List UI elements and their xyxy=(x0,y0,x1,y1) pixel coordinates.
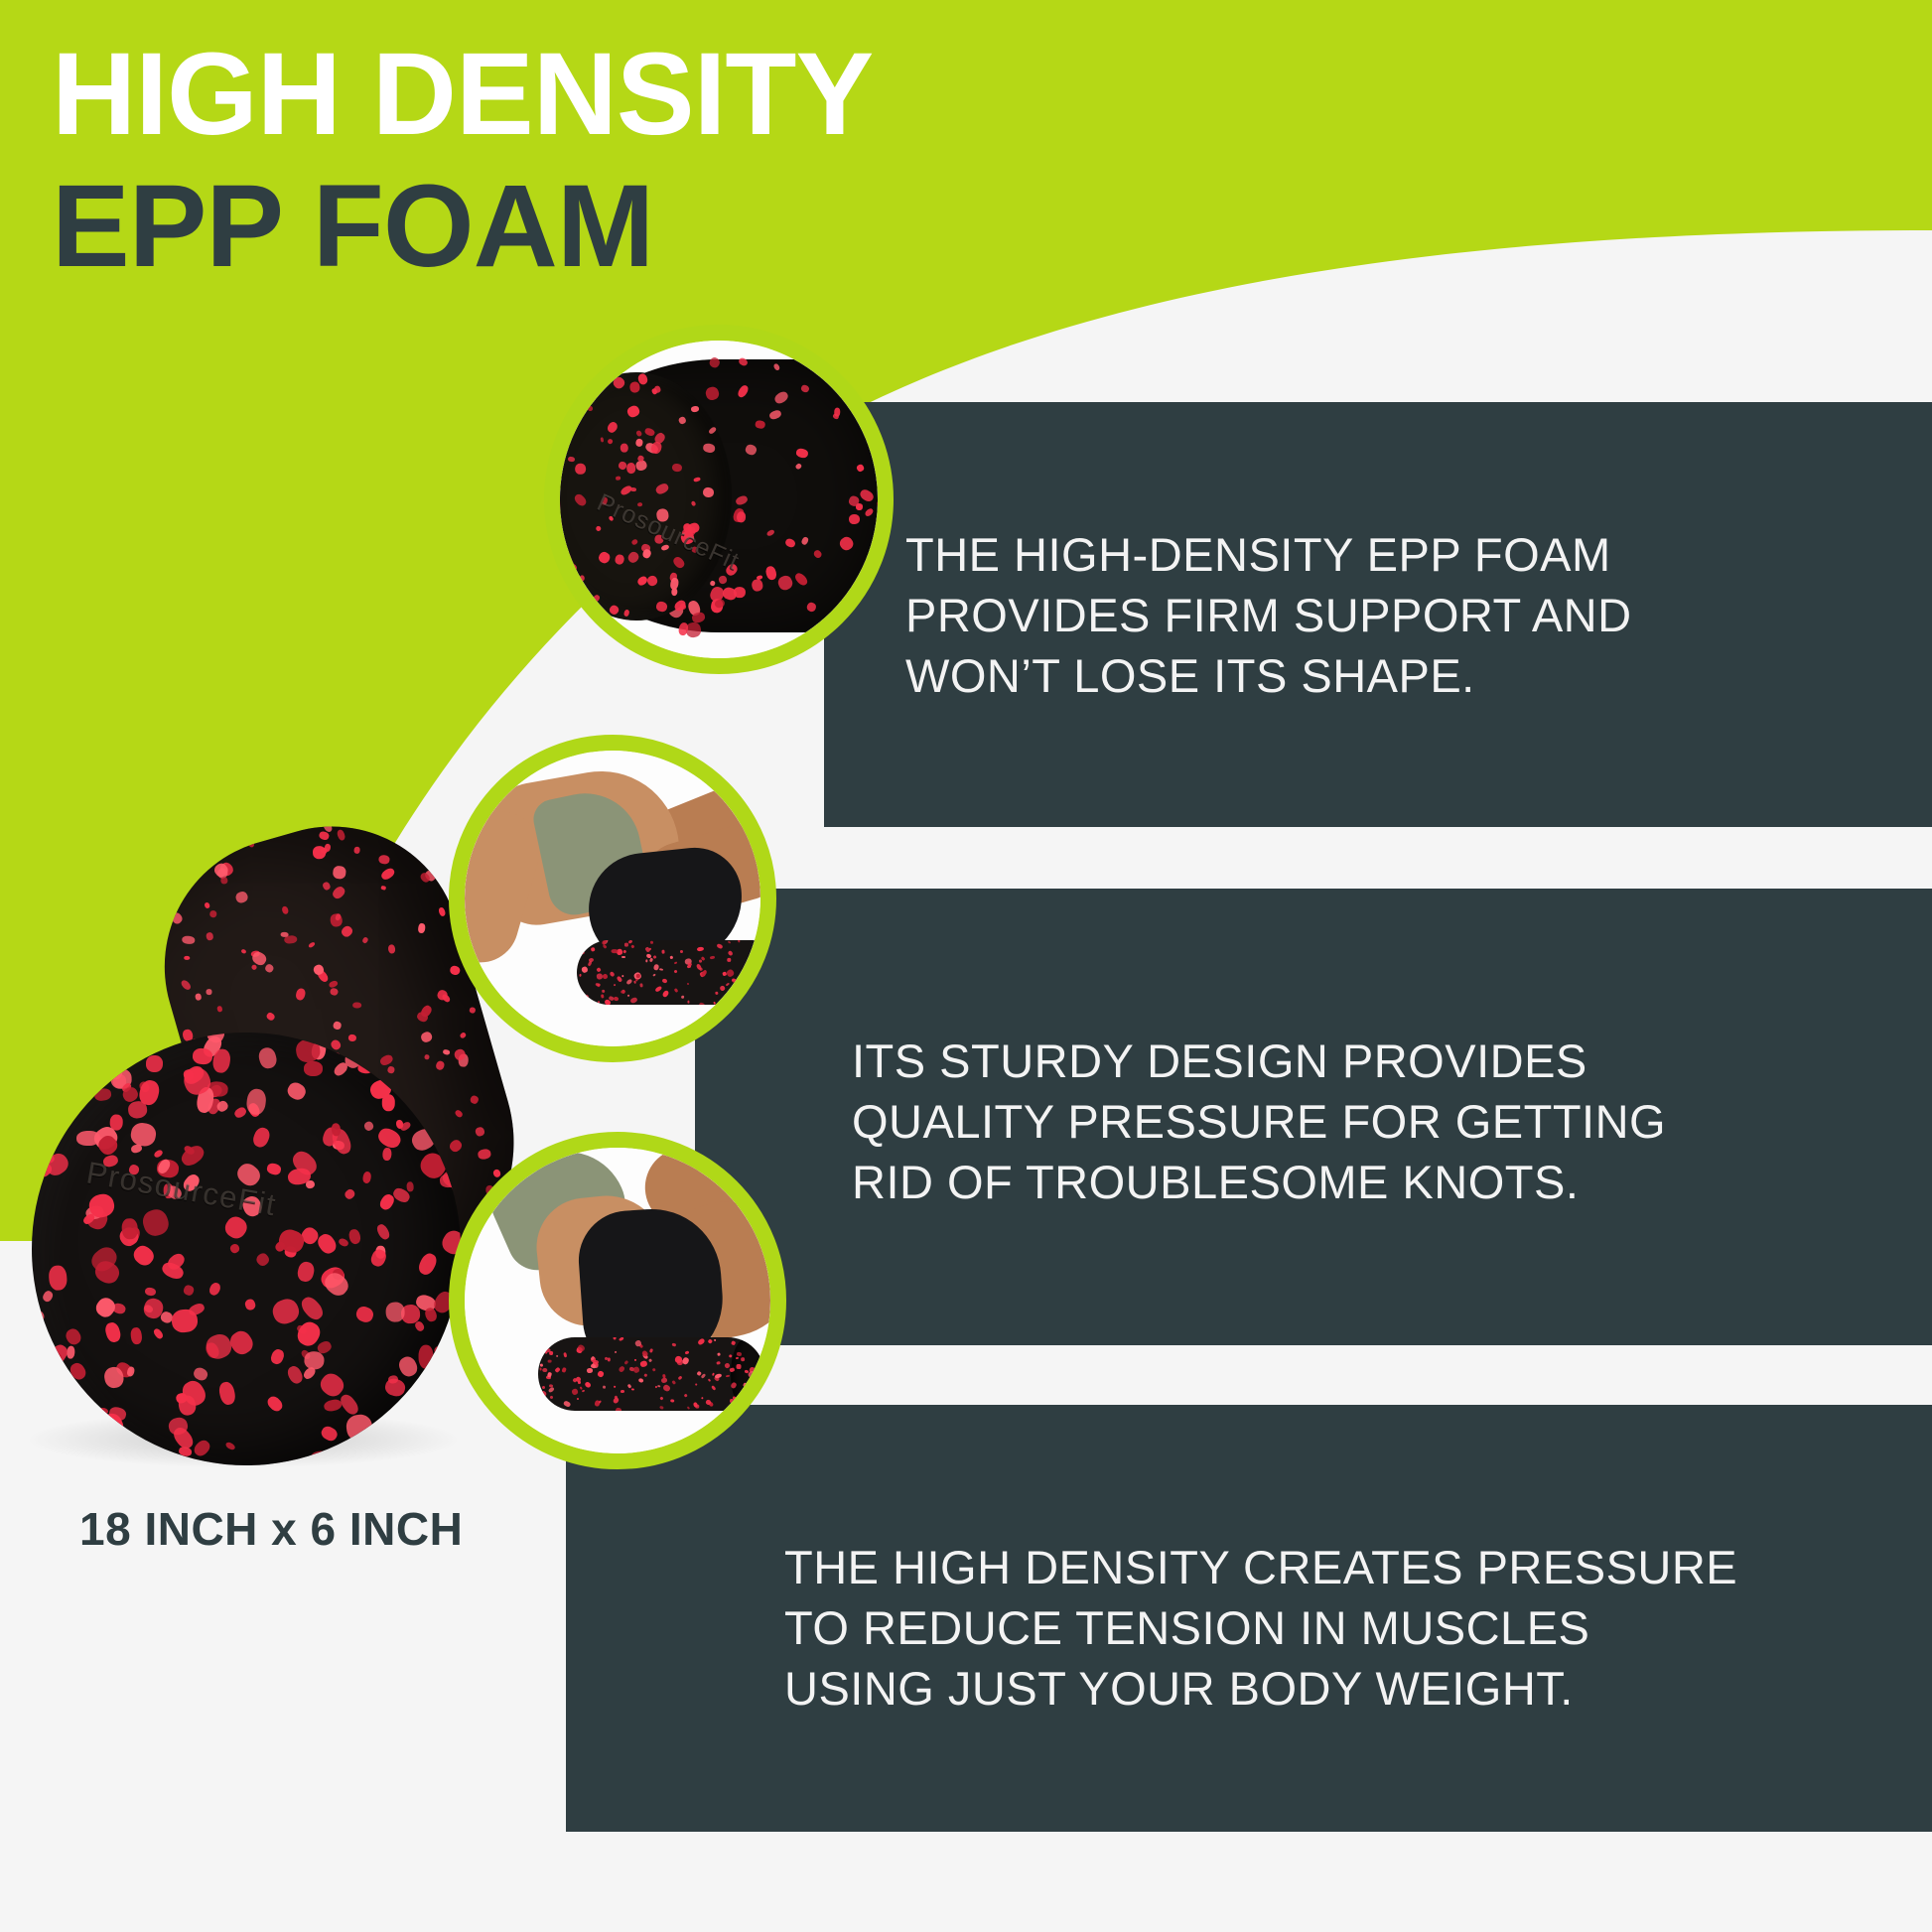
feature-3-line-2: TO REDUCE TENSION IN MUSCLES xyxy=(784,1597,1916,1658)
feature-2-line-3: RID OF TROUBLESOME KNOTS. xyxy=(852,1152,1914,1212)
feature-image-1-roller-closeup: ProsourceFit xyxy=(544,325,894,674)
feature-3-line-1: THE HIGH DENSITY CREATES PRESSURE xyxy=(784,1537,1916,1597)
feature-1-line-2: PROVIDES FIRM SUPPORT AND xyxy=(905,585,1898,645)
product-size-label: 18 INCH x 6 INCH xyxy=(79,1502,463,1556)
foam-roller xyxy=(538,1337,764,1411)
feature-2-line-2: QUALITY PRESSURE FOR GETTING xyxy=(852,1091,1914,1152)
foam-roller xyxy=(577,940,760,1006)
product-end-cap xyxy=(32,1033,461,1465)
feature-text-2: ITS STURDY DESIGN PROVIDES QUALITY PRESS… xyxy=(852,1031,1914,1212)
title-line-1: HIGH DENSITY xyxy=(52,38,873,153)
feature-1-line-3: WON’T LOSE ITS SHAPE. xyxy=(905,645,1898,706)
feature-2-line-1: ITS STURDY DESIGN PROVIDES xyxy=(852,1031,1914,1091)
page-title: HIGH DENSITY EPP FOAM xyxy=(52,38,873,286)
circle-2-inner xyxy=(465,751,760,1046)
feature-1-line-1: THE HIGH-DENSITY EPP FOAM xyxy=(905,524,1898,585)
circle-3-inner xyxy=(465,1148,770,1453)
feature-text-1: THE HIGH-DENSITY EPP FOAM PROVIDES FIRM … xyxy=(905,524,1898,706)
feature-image-3-back-roll xyxy=(449,1132,786,1469)
title-line-2: EPP FOAM xyxy=(52,167,873,286)
feature-image-2-glute-roll xyxy=(449,735,776,1062)
feature-text-3: THE HIGH DENSITY CREATES PRESSURE TO RED… xyxy=(784,1537,1916,1719)
circle-1-inner: ProsourceFit xyxy=(560,341,878,658)
feature-3-line-3: USING JUST YOUR BODY WEIGHT. xyxy=(784,1658,1916,1719)
